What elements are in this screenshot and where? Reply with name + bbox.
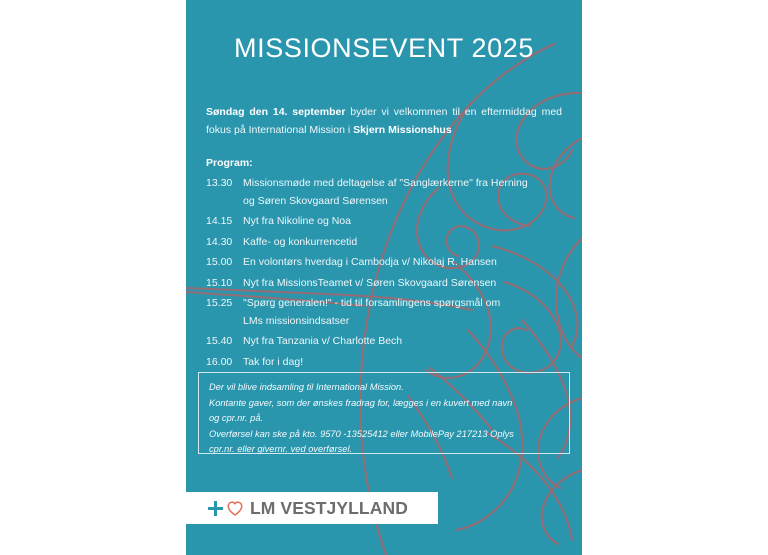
donation-line-2: Kontante gaver, som der ønskes fradrag f… — [209, 396, 559, 412]
schedule-description-continued: LMs missionsindsatser — [243, 313, 566, 331]
program-schedule: 13.30 Missionsmøde med deltagelse af "Sa… — [206, 175, 566, 374]
schedule-description: En volontørs hverdag i Cambodja v/ Nikol… — [243, 254, 566, 272]
schedule-description-main: En volontørs hverdag i Cambodja v/ Nikol… — [243, 256, 497, 268]
schedule-row: 15.10 Nyt fra MissionsTeamet v/ Søren Sk… — [206, 275, 566, 293]
intro-date-bold: Søndag den 14. september — [206, 106, 345, 118]
schedule-time: 14.15 — [206, 213, 243, 231]
donation-line-3: og cpr.nr. på. — [209, 411, 559, 427]
schedule-description-main: Missionsmøde med deltagelse af "Sanglærk… — [243, 177, 528, 189]
schedule-description-main: Nyt fra Tanzania v/ Charlotte Bech — [243, 335, 402, 347]
logo-inner: LM VESTJYLLAND — [208, 498, 408, 519]
intro-paragraph: Søndag den 14. september byder vi velkom… — [206, 103, 562, 139]
schedule-description-main: "Spørg generalen!" - tid til forsamlinge… — [243, 297, 500, 309]
program-heading: Program: — [206, 157, 253, 169]
donation-line-1: Der vil blive indsamling til Internation… — [209, 380, 559, 396]
schedule-description-main: Nyt fra MissionsTeamet v/ Søren Skovgaar… — [243, 277, 496, 289]
schedule-description: Nyt fra Tanzania v/ Charlotte Bech — [243, 333, 566, 351]
event-poster: MISSIONSEVENT 2025 Søndag den 14. septem… — [186, 0, 582, 555]
logo-lockup: LM VESTJYLLAND — [186, 492, 438, 524]
donation-line-5: cpr.nr. eller givernr. ved overførsel. — [209, 442, 559, 458]
schedule-description-main: Tak for i dag! — [243, 356, 303, 368]
schedule-description: Kaffe- og konkurrencetid — [243, 234, 566, 252]
schedule-row: 15.25 "Spørg generalen!" - tid til forsa… — [206, 295, 566, 330]
heart-icon — [227, 501, 243, 516]
schedule-description: "Spørg generalen!" - tid til forsamlinge… — [243, 295, 566, 330]
schedule-description-main: Kaffe- og konkurrencetid — [243, 236, 357, 248]
schedule-row: 14.30 Kaffe- og konkurrencetid — [206, 234, 566, 252]
plus-icon — [208, 501, 223, 516]
schedule-row: 15.40 Nyt fra Tanzania v/ Charlotte Bech — [206, 333, 566, 351]
donation-info-box: Der vil blive indsamling til Internation… — [198, 372, 570, 454]
schedule-time: 16.00 — [206, 354, 243, 372]
schedule-row: 16.00 Tak for i dag! — [206, 354, 566, 372]
schedule-row: 13.30 Missionsmøde med deltagelse af "Sa… — [206, 175, 566, 210]
schedule-time: 15.10 — [206, 275, 243, 293]
schedule-description: Missionsmøde med deltagelse af "Sanglærk… — [243, 175, 566, 210]
schedule-time: 15.00 — [206, 254, 243, 272]
donation-line-4: Overførsel kan ske på kto. 9570 -1352541… — [209, 427, 559, 443]
schedule-time: 15.40 — [206, 333, 243, 351]
schedule-time: 13.30 — [206, 175, 243, 193]
schedule-description: Nyt fra Nikoline og Noa — [243, 213, 566, 231]
poster-content: MISSIONSEVENT 2025 Søndag den 14. septem… — [186, 0, 582, 555]
intro-venue-bold: Skjern Missionshus — [353, 124, 452, 136]
page-title: MISSIONSEVENT 2025 — [206, 33, 562, 64]
poster-canvas: MISSIONSEVENT 2025 Søndag den 14. septem… — [0, 0, 768, 555]
schedule-row: 15.00 En volontørs hverdag i Cambodja v/… — [206, 254, 566, 272]
schedule-description-main: Nyt fra Nikoline og Noa — [243, 215, 351, 227]
schedule-time: 15.25 — [206, 295, 243, 313]
schedule-description-continued: og Søren Skovgaard Sørensen — [243, 193, 566, 211]
logo-text: LM VESTJYLLAND — [250, 498, 408, 519]
schedule-description: Nyt fra MissionsTeamet v/ Søren Skovgaar… — [243, 275, 566, 293]
schedule-description: Tak for i dag! — [243, 354, 566, 372]
schedule-time: 14.30 — [206, 234, 243, 252]
schedule-row: 14.15 Nyt fra Nikoline og Noa — [206, 213, 566, 231]
